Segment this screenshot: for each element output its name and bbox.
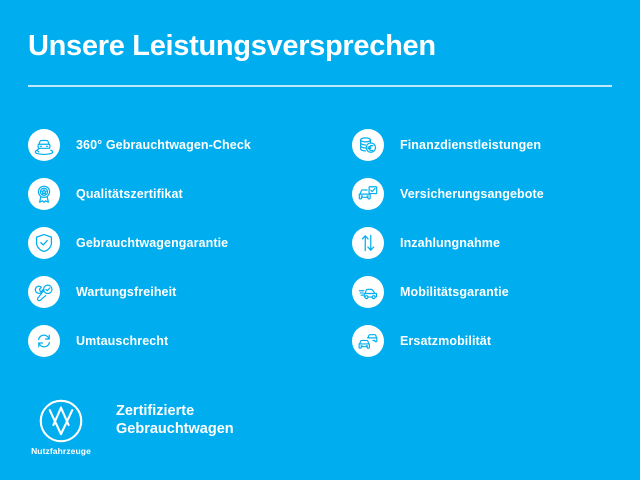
feature-label: Inzahlungnahme (400, 235, 500, 251)
feature-item-qualitaetszertifikat[interactable]: Qualitätszertifikat (28, 169, 318, 218)
van-motion-icon (352, 276, 384, 308)
slide-canvas: Unsere Leistungsversprechen 360° Gebrauc… (0, 0, 640, 480)
feature-item-inzahlungnahme[interactable]: Inzahlungnahme (352, 218, 640, 267)
features-column-left: 360° Gebrauchtwagen-Check Qualitätszerti… (28, 120, 318, 365)
feature-item-ersatzmobilitaet[interactable]: Ersatzmobilität (352, 316, 640, 365)
award-rosette-icon (28, 178, 60, 210)
title-divider (28, 85, 612, 87)
feature-item-umtauschrecht[interactable]: Umtauschrecht (28, 316, 318, 365)
feature-label: Wartungsfreiheit (76, 284, 176, 300)
two-cars-icon (352, 325, 384, 357)
feature-label: Mobilitätsgarantie (400, 284, 509, 300)
page-title: Unsere Leistungsversprechen (28, 28, 618, 64)
feature-item-finanzdienstleistungen[interactable]: Finanzdienstleistungen (352, 120, 640, 169)
feature-item-versicherungsangebote[interactable]: Versicherungsangebote (352, 169, 640, 218)
feature-label: Ersatzmobilität (400, 333, 491, 349)
footer-title: Zertifizierte Gebrauchtwagen (116, 402, 234, 438)
wrench-check-icon (28, 276, 60, 308)
footer-title-line-1: Zertifizierte (116, 402, 234, 420)
volkswagen-logo: Nutzfahrzeuge (30, 398, 92, 456)
footer-title-line-2: Gebrauchtwagen (116, 420, 234, 438)
feature-label: Umtauschrecht (76, 333, 168, 349)
volkswagen-roundel-icon (38, 398, 84, 444)
car-document-check-icon (352, 178, 384, 210)
exchange-arrows-icon (28, 325, 60, 357)
features-column-right: Finanzdienstleistungen Versicherungsange… (352, 120, 640, 365)
feature-item-mobilitaetsgarantie[interactable]: Mobilitätsgarantie (352, 267, 640, 316)
feature-label: Gebrauchtwagengarantie (76, 235, 228, 251)
feature-item-gebrauchtwagen-check[interactable]: 360° Gebrauchtwagen-Check (28, 120, 318, 169)
shield-check-icon (28, 227, 60, 259)
logo-subtitle: Nutzfahrzeuge (31, 446, 91, 456)
feature-item-gebrauchtwagengarantie[interactable]: Gebrauchtwagengarantie (28, 218, 318, 267)
car-360-check-icon (28, 129, 60, 161)
footer-brand-block: Nutzfahrzeuge Zertifizierte Gebrauchtwag… (30, 398, 234, 456)
feature-label: Finanzdienstleistungen (400, 137, 541, 153)
feature-label: Versicherungsangebote (400, 186, 544, 202)
coins-euro-icon (352, 129, 384, 161)
feature-item-wartungsfreiheit[interactable]: Wartungsfreiheit (28, 267, 318, 316)
feature-label: Qualitätszertifikat (76, 186, 183, 202)
feature-label: 360° Gebrauchtwagen-Check (76, 137, 251, 153)
arrows-up-down-icon (352, 227, 384, 259)
